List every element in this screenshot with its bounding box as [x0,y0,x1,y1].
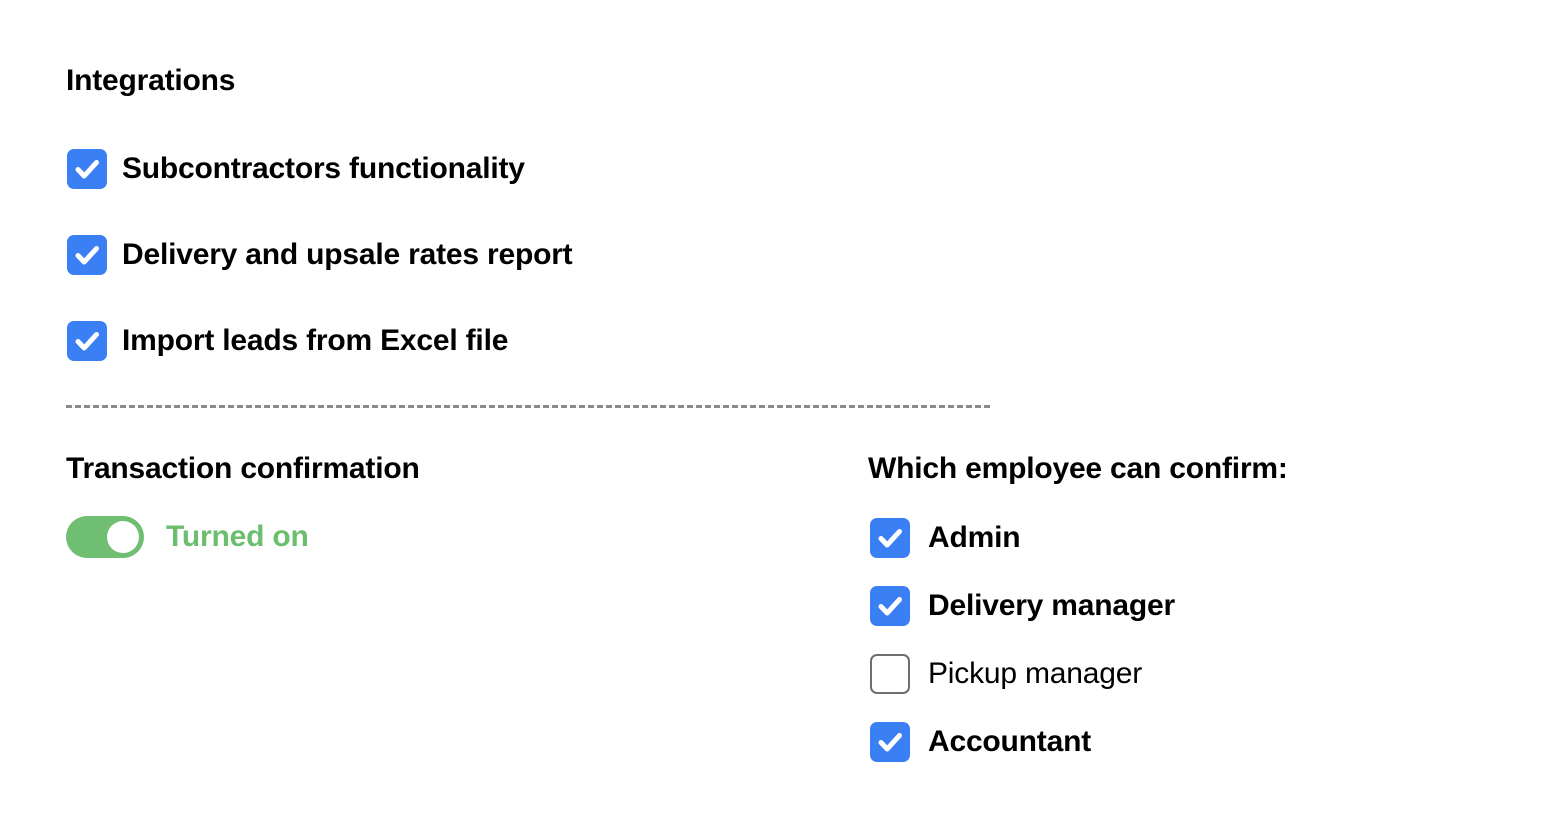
integration-item-delivery-and-upsale-rates-report[interactable]: Delivery and upsale rates report [67,235,572,275]
checkbox-checked-icon[interactable] [67,235,107,275]
transaction-confirmation-toggle-row[interactable]: Turned on [66,516,309,558]
section-divider [66,405,990,408]
settings-card: Integrations Subcontractors functionalit… [0,0,1562,829]
integration-item-import-leads-from-excel-file[interactable]: Import leads from Excel file [67,321,508,361]
integration-item-subcontractors-functionality[interactable]: Subcontractors functionality [67,149,525,189]
checkbox-checked-icon[interactable] [870,586,910,626]
employee-confirm-section-title: Which employee can confirm: [868,452,1288,486]
integration-item-label: Subcontractors functionality [122,152,525,186]
employee-item-label: Accountant [928,725,1091,759]
employee-item-admin[interactable]: Admin [870,518,1020,558]
toggle-state-label: Turned on [166,520,309,554]
checkbox-checked-icon[interactable] [870,722,910,762]
checkbox-checked-icon[interactable] [67,149,107,189]
transaction-confirmation-title: Transaction confirmation [66,452,420,486]
checkbox-checked-icon[interactable] [67,321,107,361]
integrations-section-title: Integrations [66,64,235,98]
employee-item-label: Pickup manager [928,657,1142,691]
employee-item-accountant[interactable]: Accountant [870,722,1091,762]
integration-item-label: Import leads from Excel file [122,324,508,358]
employee-item-delivery-manager[interactable]: Delivery manager [870,586,1175,626]
employee-item-pickup-manager[interactable]: Pickup manager [870,654,1142,694]
checkbox-checked-icon[interactable] [870,518,910,558]
integration-item-label: Delivery and upsale rates report [122,238,572,272]
toggle-knob [107,521,139,553]
checkbox-empty-icon[interactable] [870,654,910,694]
employee-item-label: Delivery manager [928,589,1175,623]
toggle-switch-on-icon[interactable] [66,516,144,558]
employee-item-label: Admin [928,521,1020,555]
